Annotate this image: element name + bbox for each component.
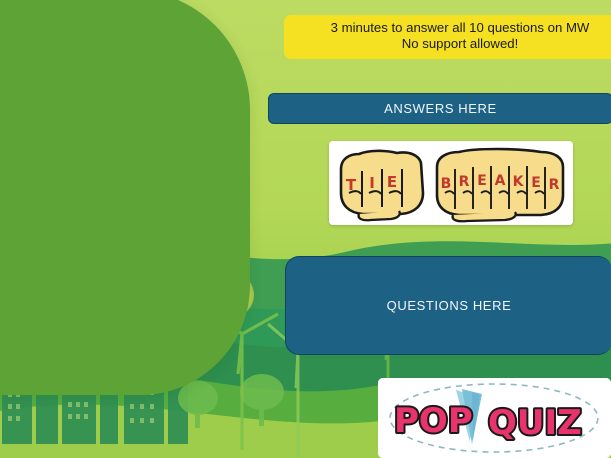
answers-here-label: ANSWERS HERE [384,101,497,116]
questions-here-label: QUESTIONS HERE [387,298,512,313]
quiz-text: QUIZ [488,403,582,443]
tiebreaker-letter: E [477,173,487,189]
tiebreaker-letter: R [549,177,560,193]
tiebreaker-letter: I [369,174,375,192]
banner-line-2: No support allowed! [290,36,611,52]
right-fist-icon: B R E A K E R [437,149,563,221]
banner-line-1: 3 minutes to answer all 10 questions on … [290,20,611,36]
pop-text: POP [394,401,473,441]
tiebreaker-letter: R [459,174,470,190]
tiebreaker-letter: B [441,176,452,192]
tiebreaker-letter: E [387,173,397,191]
answers-here-button[interactable]: ANSWERS HERE [268,93,611,124]
question-panel: say “It’s cloudy” in French? ges French … [0,0,250,395]
pop-quiz-logo: POP POP QUIZ QUIZ [378,378,611,458]
tiebreaker-letter: K [513,174,525,190]
slide-canvas: say “It’s cloudy” in French? ges French … [0,0,611,458]
left-fist-icon: T I E [341,151,423,220]
tiebreaker-letter: T [346,176,357,194]
questions-here-button[interactable]: QUESTIONS HERE [285,256,611,355]
tie-breaker-image: T I E [329,141,573,225]
tiebreaker-letter: E [531,175,541,191]
tiebreaker-letter: A [495,173,506,189]
timing-instruction-banner: 3 minutes to answer all 10 questions on … [284,15,611,59]
